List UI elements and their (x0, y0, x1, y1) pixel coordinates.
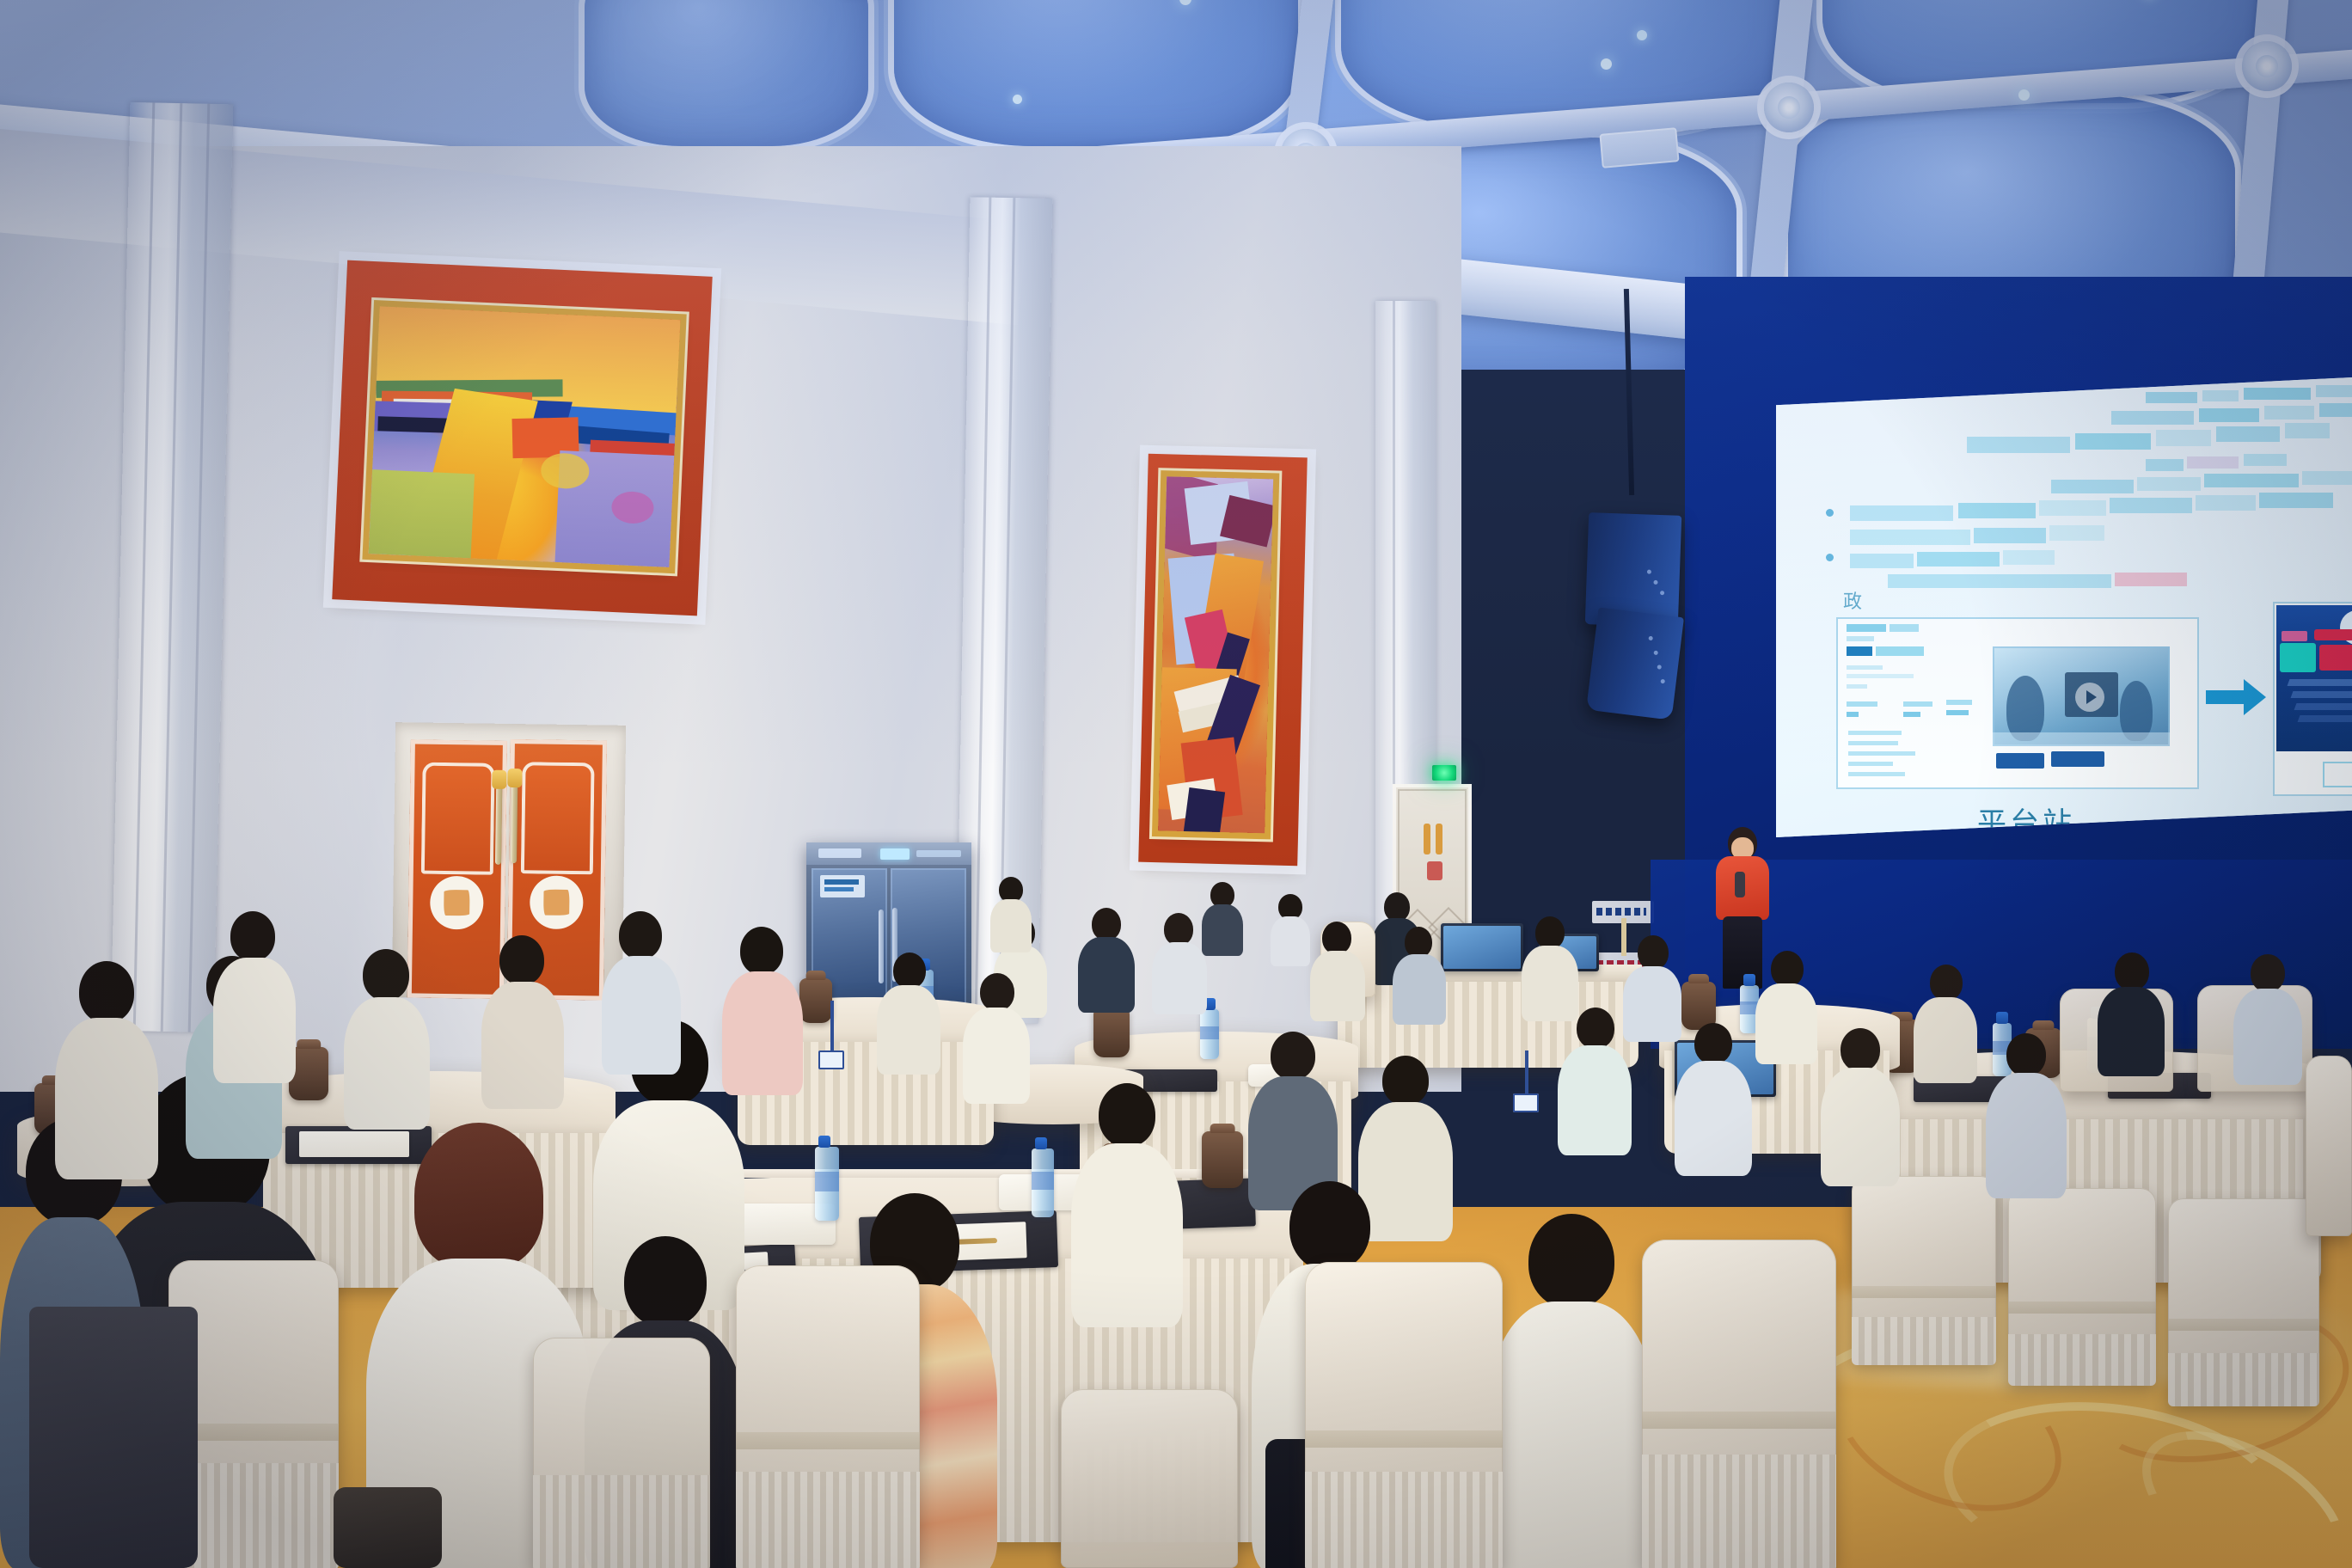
slide-app-frame (2273, 602, 2352, 796)
handbag[interactable] (334, 1487, 442, 1568)
wall-pilaster (111, 102, 234, 1032)
audience-member (1623, 935, 1681, 1040)
fridge-label (820, 875, 865, 897)
lanyard (1525, 1050, 1528, 1095)
audience-member (2233, 954, 2302, 1083)
conference-hall-photo: 政 (0, 0, 2352, 1568)
card-button[interactable] (1996, 753, 2044, 769)
audience-member (1558, 1008, 1632, 1154)
audience-member (1393, 927, 1446, 1023)
audience-member (1310, 922, 1365, 1020)
abstract-landscape-painting (369, 306, 681, 567)
audience-member (1821, 1028, 1900, 1185)
water-bottle[interactable] (1032, 1148, 1054, 1217)
card-photo (1993, 646, 2170, 746)
banquet-chair[interactable] (1852, 1176, 1996, 1362)
teapot (1093, 1008, 1130, 1057)
artwork-panel-vertical (1138, 454, 1308, 866)
audience-member (990, 877, 1032, 949)
av-laptop[interactable] (1441, 923, 1523, 971)
fire-alarm (1427, 861, 1442, 880)
audience-member (722, 927, 803, 1092)
audience-member (1522, 916, 1578, 1020)
name-badge (1513, 1093, 1539, 1112)
audience-member (344, 949, 430, 1126)
audience-member (602, 911, 681, 1071)
card-button[interactable] (2051, 751, 2104, 767)
banquet-chair[interactable] (1642, 1240, 1836, 1568)
abstract-vertical-painting (1158, 476, 1273, 833)
audience-member (1078, 908, 1135, 1011)
door-handle[interactable] (511, 784, 518, 863)
audience-member (213, 911, 296, 1080)
slide-bullet (1826, 554, 1834, 561)
banquet-chair[interactable] (1305, 1262, 1503, 1568)
banquet-chair[interactable] (736, 1265, 920, 1568)
audience-member (2098, 952, 2165, 1075)
banquet-chair[interactable] (2168, 1198, 2319, 1405)
ceiling-rosette (2242, 41, 2292, 91)
name-badge (818, 1050, 844, 1069)
banquet-chair[interactable] (1061, 1389, 1238, 1568)
lanyard (830, 1001, 834, 1052)
audience-member (1675, 1023, 1752, 1174)
ceiling-rosette (1764, 83, 1814, 132)
projection-screen: 政 (1776, 377, 2352, 837)
audience-member (1152, 913, 1207, 1013)
fridge-display (880, 848, 910, 860)
app-screenshot (2276, 605, 2352, 751)
audience-member (1914, 965, 1977, 1081)
slide-body-heading: 政 (1843, 586, 1862, 614)
audience-member (1202, 882, 1243, 952)
banquet-chair[interactable] (2008, 1188, 2156, 1382)
artwork-panel-landscape (332, 260, 712, 616)
audience-member (55, 961, 158, 1176)
audience-member (1487, 1214, 1656, 1568)
slide-product-card (1836, 617, 2199, 789)
audience-member (1755, 951, 1817, 1063)
arrow-right-icon (2206, 677, 2266, 721)
audience-member (877, 952, 940, 1073)
audience-member (963, 973, 1030, 1102)
handheld-microphone (1735, 872, 1745, 897)
line-array-speaker-lower (1586, 607, 1684, 720)
water-bottle[interactable] (1200, 1009, 1219, 1059)
audience-member (1071, 1083, 1183, 1324)
audience-member (1986, 1033, 2067, 1197)
door-handle[interactable] (495, 786, 502, 865)
banquet-chair[interactable] (2306, 1056, 2352, 1236)
teapot (1202, 1131, 1243, 1188)
exit-sign (1432, 765, 1456, 781)
banquet-chair[interactable] (533, 1338, 710, 1568)
audience-member (1271, 894, 1310, 963)
teapot (799, 978, 832, 1023)
backpack[interactable] (29, 1307, 198, 1568)
audience-member (481, 935, 564, 1106)
slide-bullet (1826, 509, 1834, 517)
